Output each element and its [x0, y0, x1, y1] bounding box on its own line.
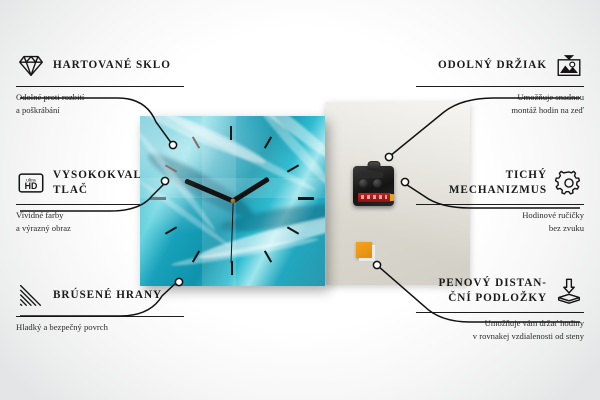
- feature-header: TICHÝ MECHANIZMUS: [416, 166, 584, 200]
- feature-header: HARTOVANÉ SKLO: [16, 48, 184, 82]
- mechanism-knob-left: [359, 179, 368, 188]
- press-down-layers-icon: [554, 276, 584, 306]
- battery-label: [361, 195, 387, 199]
- clock-mechanism: [353, 166, 394, 206]
- clock-tick-12: [230, 126, 232, 140]
- feature-divider: [16, 86, 184, 87]
- product-infographic: HARTOVANÉ SKLO Odolné proti rozbití a po…: [0, 0, 600, 400]
- feature-title: HARTOVANÉ SKLO: [53, 58, 171, 73]
- feature-divider: [416, 312, 584, 313]
- feature-title: TICHÝ MECHANIZMUS: [416, 168, 547, 198]
- feature-description: Hladký a bezpečný povrch: [16, 321, 184, 333]
- mechanism-knob-right: [373, 179, 382, 188]
- picture-hanger-icon: [554, 50, 584, 80]
- feature-header: ODOLNÝ DRŽIAK: [416, 48, 584, 82]
- ultra-hd-icon: ultra HD: [16, 168, 46, 198]
- feature-description: Umožňuje vám držať hodiny v rovnakej vzd…: [416, 317, 584, 341]
- feature-divider: [416, 204, 584, 205]
- feature-durable-holder: ODOLNÝ DRŽIAK Umožňuje snadnou montáž ho…: [416, 48, 584, 116]
- clock-tick-3: [298, 197, 314, 200]
- feature-divider: [16, 316, 184, 317]
- feature-silent-mechanism: TICHÝ MECHANIZMUS Hodinové ručičky bez z…: [416, 166, 584, 234]
- wall-clock: [140, 116, 325, 286]
- feature-tempered-glass: HARTOVANÉ SKLO Odolné proti rozbití a po…: [16, 48, 184, 116]
- mechanism-hanger: [367, 161, 380, 170]
- brushed-edge-icon: [16, 280, 46, 310]
- feature-description: Umožňuje snadnou montáž hodin na zeď: [416, 91, 584, 115]
- feature-description: Hodinové ručičky bez zvuku: [416, 209, 584, 233]
- feature-polished-edges: BRÚSENÉ HRANY Hladký a bezpečný povrch: [16, 278, 184, 334]
- feature-divider: [416, 86, 584, 87]
- foam-spacer-pad: [356, 242, 372, 258]
- clock-tick-9: [150, 197, 166, 200]
- feature-description: Odolné proti rozbití a poškrábání: [16, 91, 184, 115]
- feature-title: PENOVÝ DISTAN- ČNÍ PODLOŽKY: [416, 276, 547, 306]
- diamond-icon: [16, 50, 46, 80]
- mechanism-top-slot: [359, 172, 383, 178]
- clock-center-cap: [230, 199, 235, 204]
- battery: [358, 193, 391, 202]
- svg-text:HD: HD: [25, 181, 38, 191]
- feature-title: ODOLNÝ DRŽIAK: [438, 58, 547, 73]
- feature-title: BRÚSENÉ HRANY: [53, 288, 162, 303]
- gear-icon: [554, 168, 584, 198]
- clock-tick-6: [231, 261, 233, 275]
- feature-foam-spacers: PENOVÝ DISTAN- ČNÍ PODLOŽKY Umožňuje vám…: [416, 274, 584, 342]
- feature-header: PENOVÝ DISTAN- ČNÍ PODLOŽKY: [416, 274, 584, 308]
